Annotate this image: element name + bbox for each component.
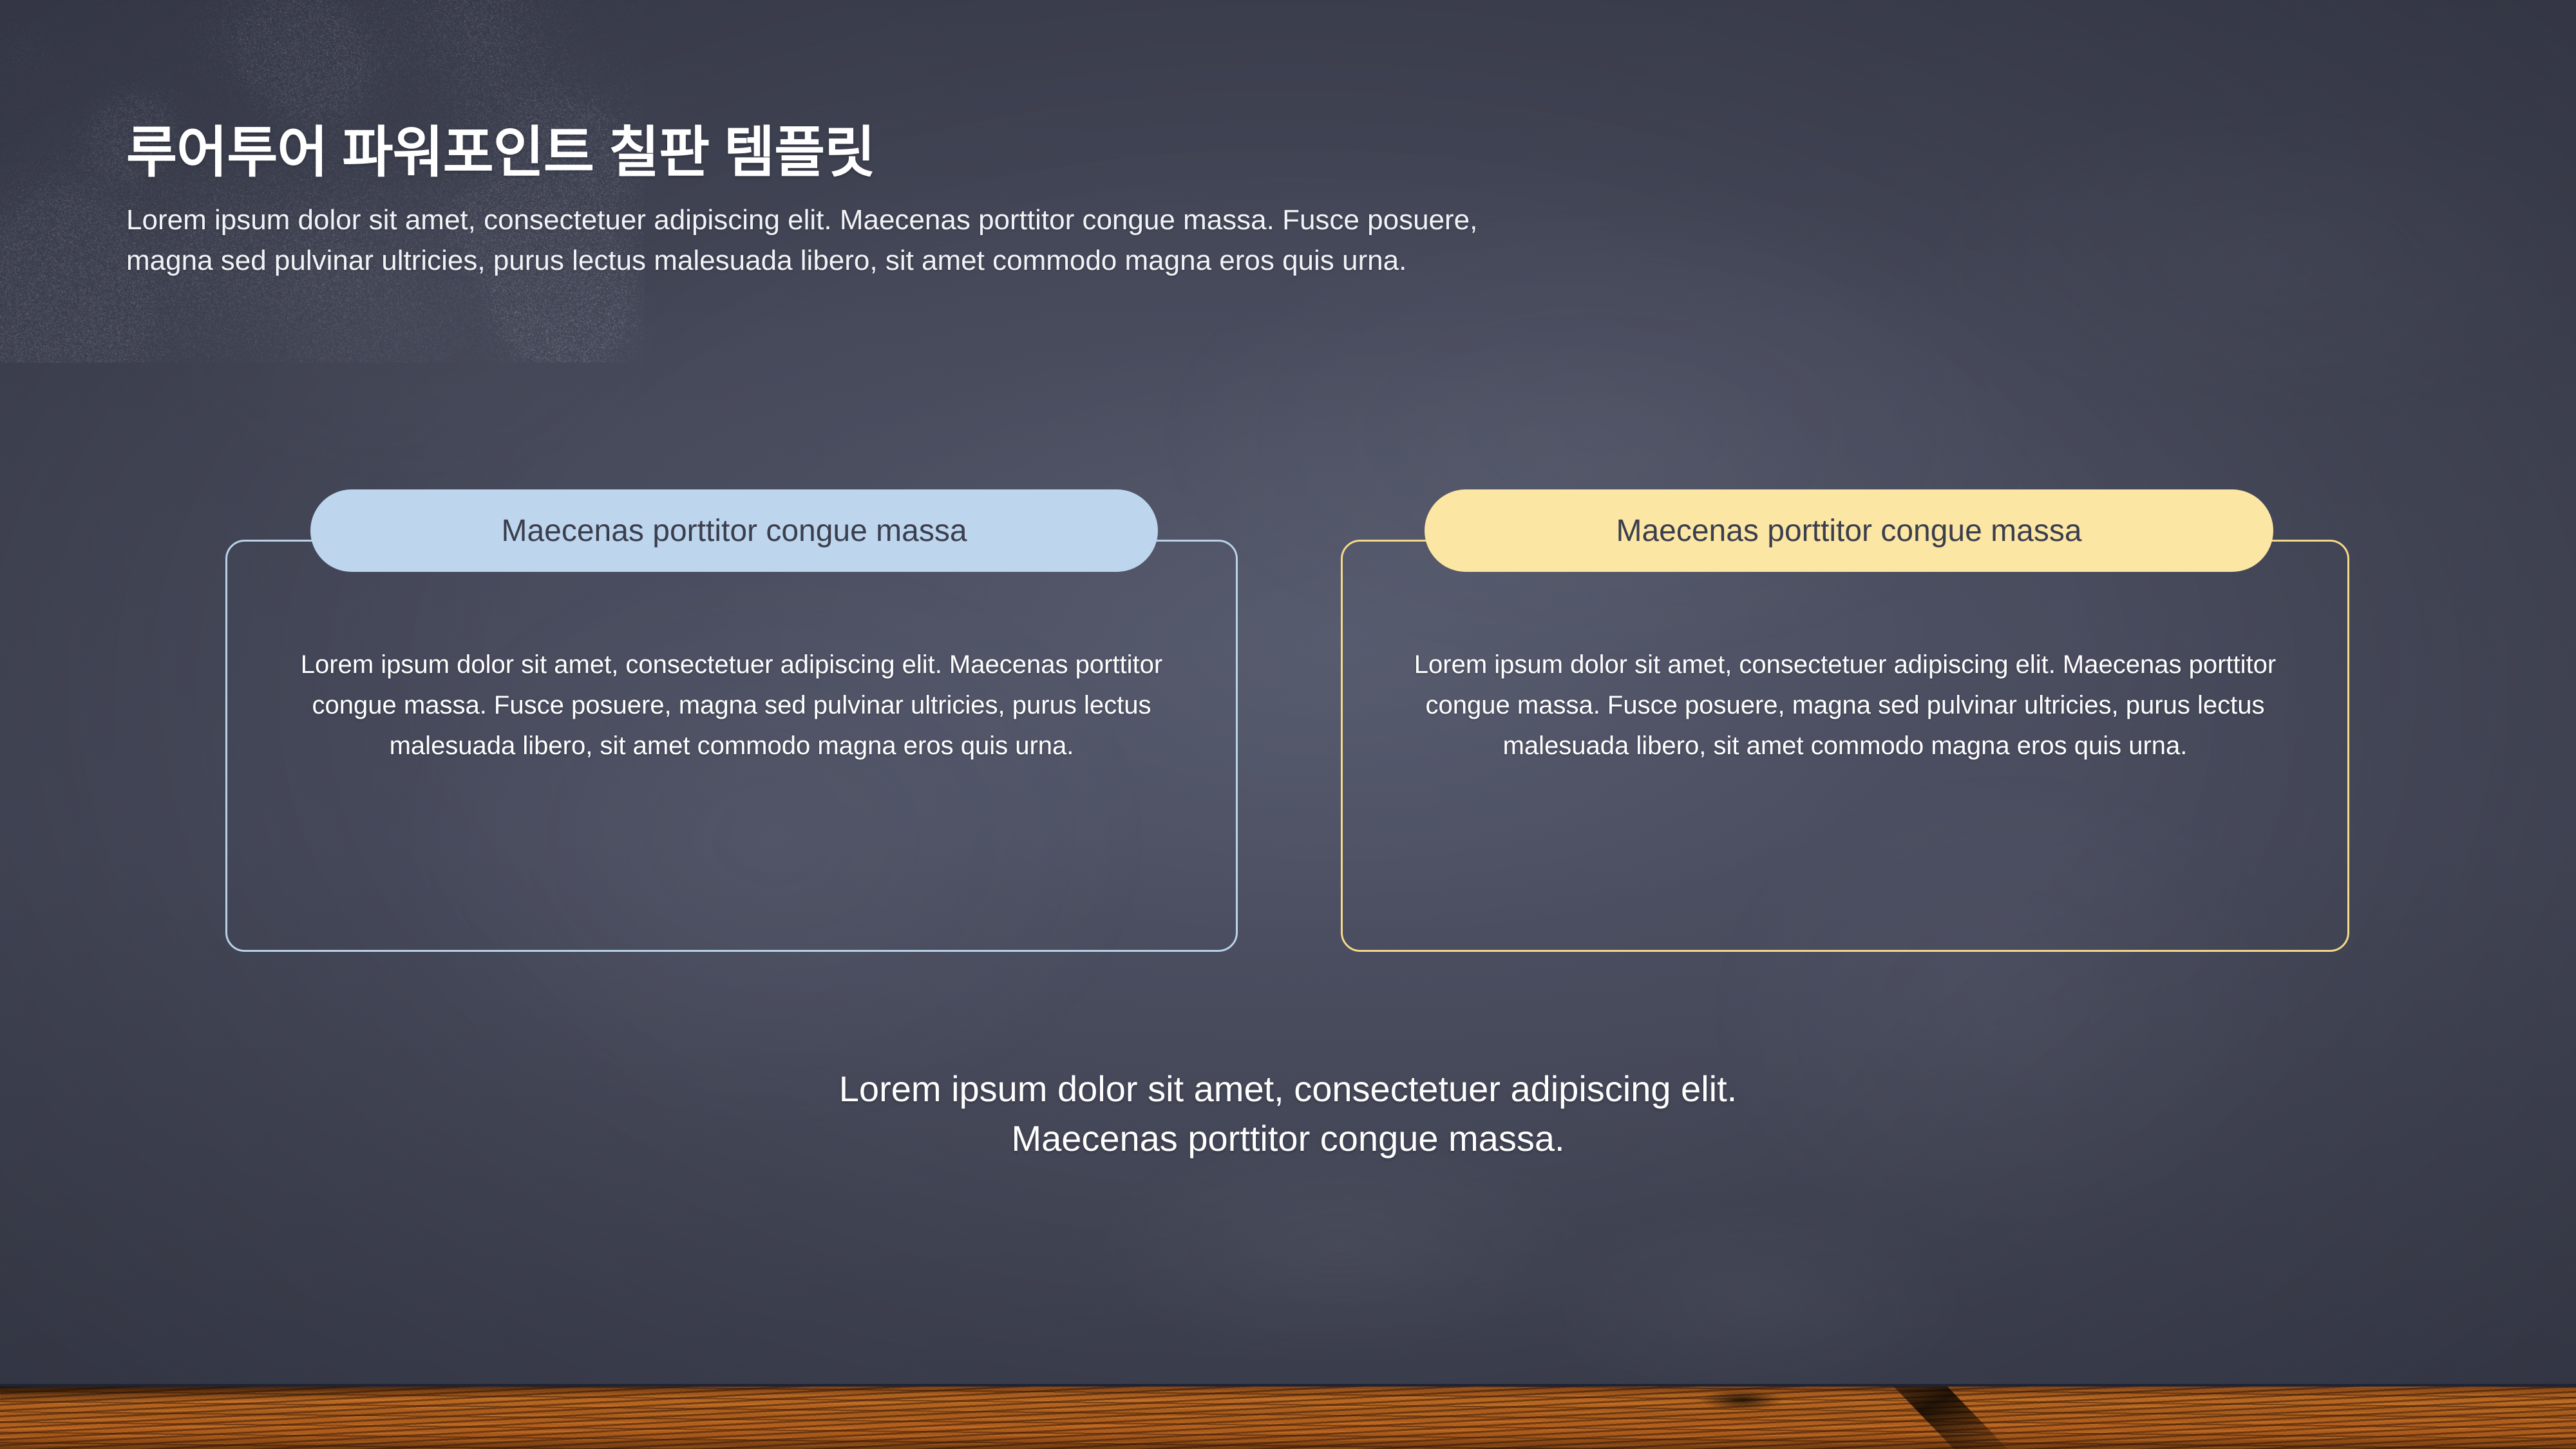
card-right-pill-label[interactable]: Maecenas porttitor congue massa [1425, 489, 2273, 572]
card-left-pill-text: Maecenas porttitor congue massa [501, 513, 967, 549]
content-card-left[interactable]: Lorem ipsum dolor sit amet, consectetuer… [225, 540, 1238, 952]
card-right-body-text: Lorem ipsum dolor sit amet, consectetuer… [1343, 645, 2347, 767]
subtitle-line-1: Lorem ipsum dolor sit amet, consectetuer… [126, 200, 2110, 240]
slide-header: 루어투어 파워포인트 칠판 템플릿 Lorem ipsum dolor sit … [126, 124, 2123, 281]
ledge-shading [0, 1387, 2576, 1449]
slide-subtitle: Lorem ipsum dolor sit amet, consectetuer… [126, 200, 2110, 281]
caption-line-2: Maecenas porttitor congue massa. [0, 1113, 2576, 1163]
slide-canvas: 루어투어 파워포인트 칠판 템플릿 Lorem ipsum dolor sit … [0, 0, 2576, 1449]
card-right-pill-text: Maecenas porttitor congue massa [1616, 513, 2081, 549]
subtitle-line-2: magna sed pulvinar ultricies, purus lect… [126, 241, 2110, 281]
slide-caption: Lorem ipsum dolor sit amet, consectetuer… [0, 1064, 2576, 1164]
card-left-pill-label[interactable]: Maecenas porttitor congue massa [310, 489, 1158, 572]
caption-line-1: Lorem ipsum dolor sit amet, consectetuer… [0, 1064, 2576, 1113]
wooden-chalk-ledge [0, 1384, 2576, 1449]
page-title: 루어투어 파워포인트 칠판 템플릿 [126, 124, 2123, 182]
content-card-right[interactable]: Lorem ipsum dolor sit amet, consectetuer… [1341, 540, 2349, 952]
card-left-body-text: Lorem ipsum dolor sit amet, consectetuer… [227, 645, 1236, 767]
